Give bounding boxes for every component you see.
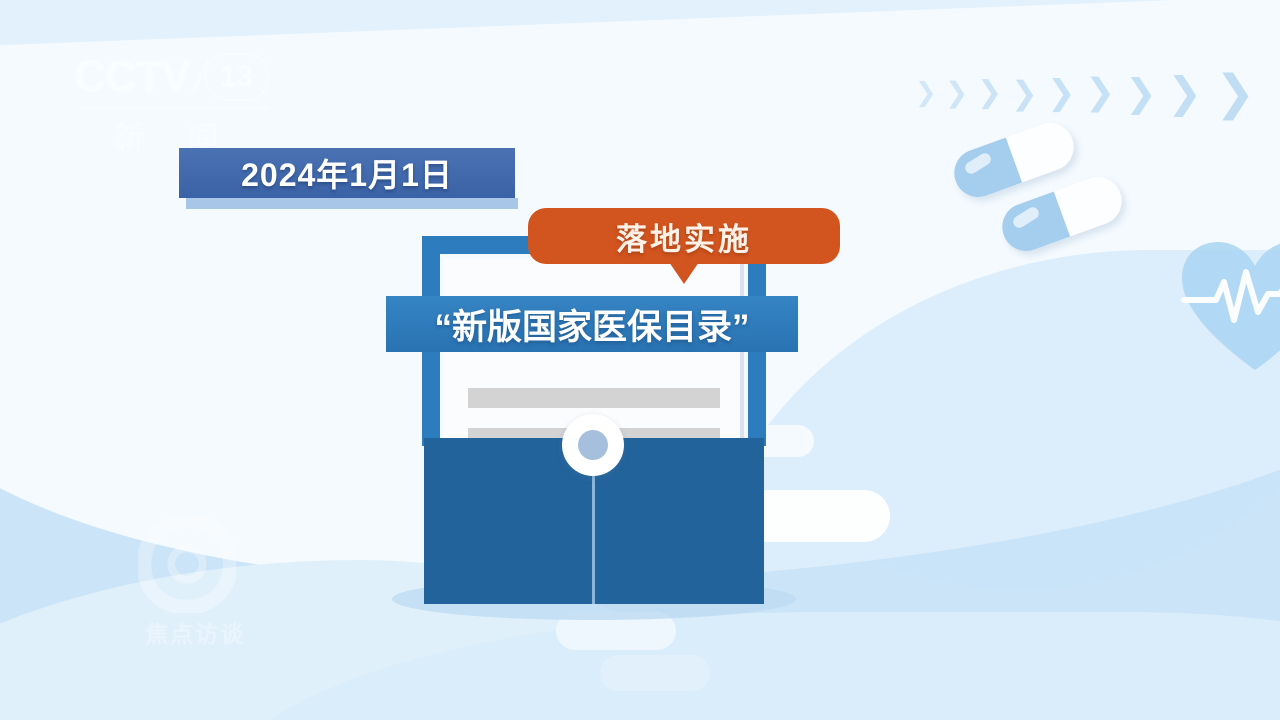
chevron-icon: ❯ [1125,74,1157,112]
briefcase-clasp [562,414,624,476]
chevron-icon: ❯ [1167,72,1202,114]
callout-badge-text: 落地实施 [616,214,752,259]
date-banner-text: 2024年1月1日 [241,150,453,196]
title-band-text: “新版国家医保目录” [434,299,749,350]
chevron-icon: ❯ [915,80,937,106]
cctv-logo: CCTV / 13 新 闻 [74,50,304,146]
chevron-icon: ❯ [1011,77,1038,109]
chevron-arrows: ❯ ❯ ❯ ❯ ❯ ❯ ❯ ❯ ❯ [915,62,1275,124]
callout-badge: 落地实施 [528,208,840,270]
briefcase [422,236,766,604]
date-banner-shadow [186,198,518,209]
date-banner-box: 2024年1月1日 [179,148,515,198]
chevron-icon: ❯ [945,79,968,107]
focus-watermark-ring [138,515,236,613]
callout-badge-box: 落地实施 [528,208,840,264]
chevron-icon: ❯ [1215,69,1255,117]
cctv-logo-underline [80,106,270,109]
focus-watermark-text: 焦点访谈 [110,615,280,649]
date-banner: 2024年1月1日 [179,148,515,210]
focus-watermark: 焦点访谈 [110,515,280,655]
chevron-icon: ❯ [1085,75,1115,111]
briefcase-clasp-center [578,430,608,460]
broadcast-graphic-stage: CCTV / 13 新 闻 ❯ ❯ ❯ ❯ ❯ ❯ ❯ ❯ ❯ [0,0,1280,720]
cctv-logo-wordmark: CCTV [74,52,190,102]
decor-bar-4 [600,655,710,691]
chevron-icon: ❯ [1047,76,1076,110]
callout-badge-tail [669,262,699,284]
chevron-icon: ❯ [977,78,1002,108]
cctv-logo-channel-number: 13 [205,53,269,101]
title-band: “新版国家医保目录” [386,296,798,352]
heart-ecg-icon [1180,238,1280,378]
